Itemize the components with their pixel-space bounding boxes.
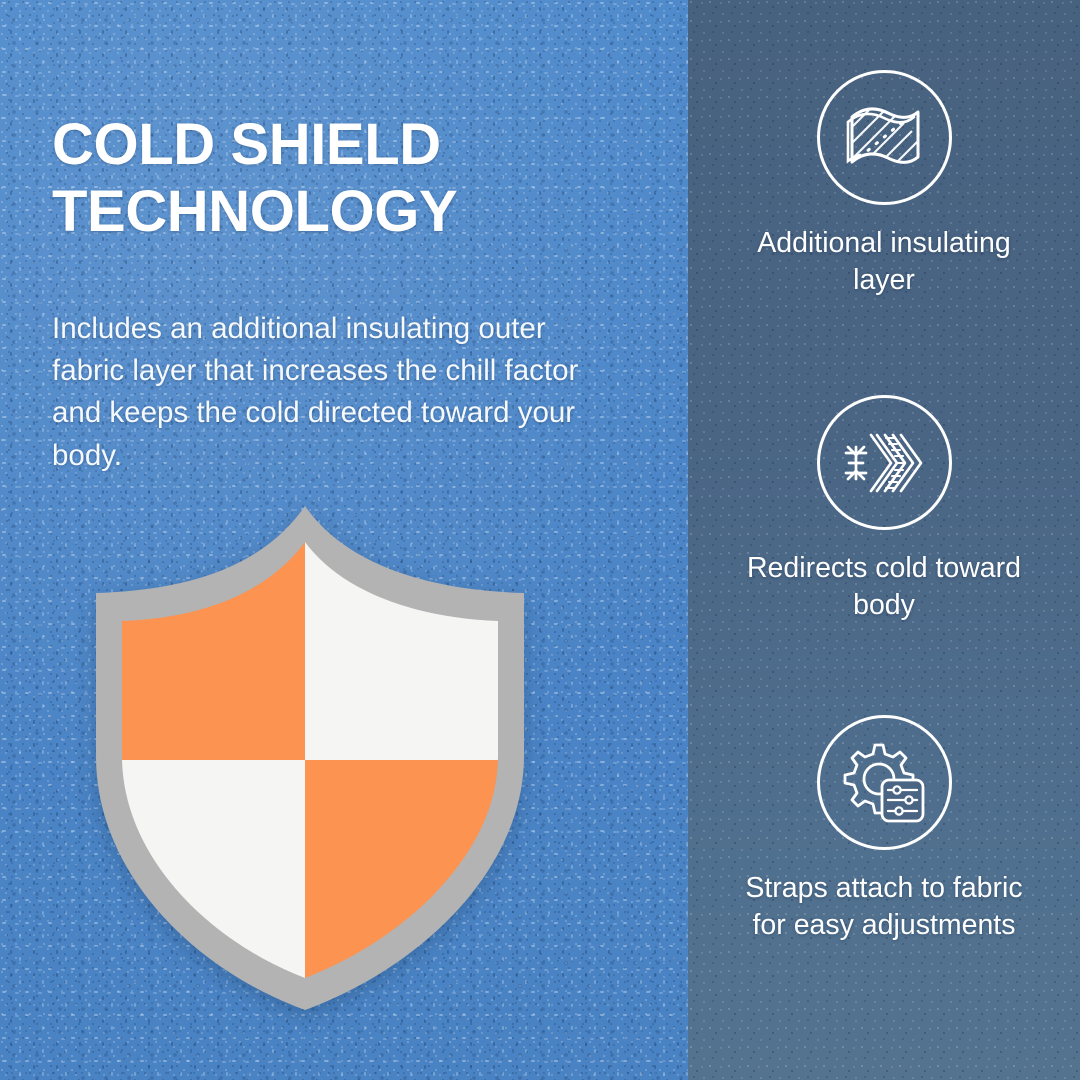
infographic-canvas: COLD SHIELD TECHNOLOGY Includes an addit…	[0, 0, 1080, 1080]
fabric-layer-icon	[842, 99, 926, 177]
shield-quadrants	[80, 498, 540, 1018]
feature-label: Redirects cold toward body	[688, 550, 1080, 624]
feature-icon-circle	[817, 715, 952, 850]
body-copy: Includes an additional insulating outer …	[52, 308, 622, 478]
cold-shield-emblem	[80, 498, 540, 1018]
feature-label: Additional insulating layer	[688, 225, 1080, 299]
feature-item-additional-insulating-layer[interactable]: Additional insulating layer	[688, 70, 1080, 299]
page-title: COLD SHIELD TECHNOLOGY	[52, 111, 652, 246]
feature-icon-circle	[817, 395, 952, 530]
feature-icon-circle	[817, 70, 952, 205]
thermal-layers-icon	[841, 423, 927, 503]
feature-label: Straps attach to fabric for easy adjustm…	[688, 870, 1080, 944]
feature-item-redirects-cold-toward-body[interactable]: Redirects cold toward body	[688, 395, 1080, 624]
feature-item-straps-attach-to-fabric[interactable]: Straps attach to fabric for easy adjustm…	[688, 715, 1080, 944]
gear-settings-icon	[842, 742, 926, 824]
